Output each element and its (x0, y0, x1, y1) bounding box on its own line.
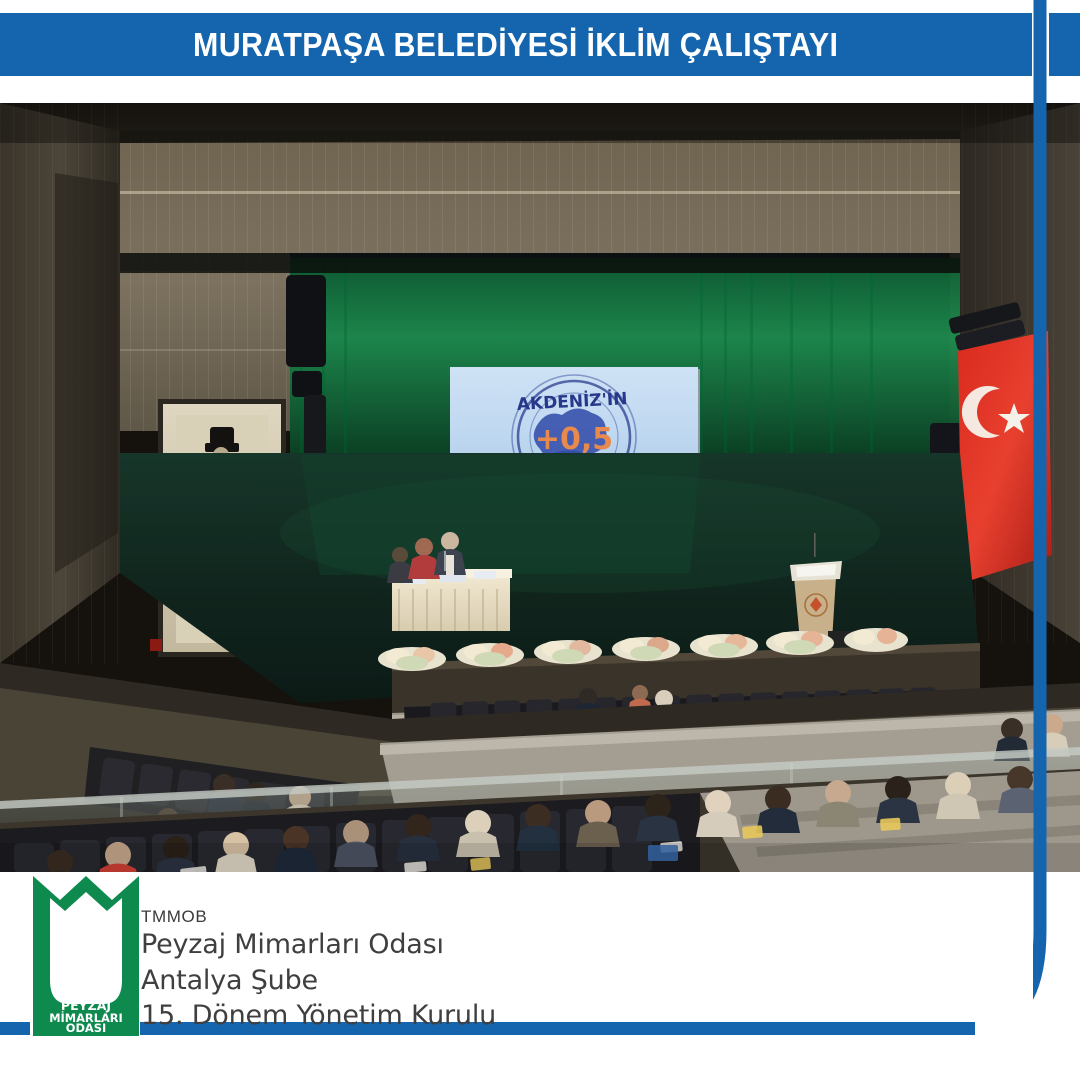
tmmob-peyzaj-logo-icon: TMMOB PEYZAJ MİMARLARI ODASI (33, 876, 139, 1036)
header-bar: MURATPAŞA BELEDİYESİ İKLİM ÇALIŞTAYI (0, 13, 1032, 76)
svg-text:TMMOB: TMMOB (71, 990, 101, 998)
poster-root: MURATPAŞA BELEDİYESİ İKLİM ÇALIŞTAYI (0, 0, 1080, 1080)
footer-line-3: 15. Dönem Yönetim Kurulu (141, 998, 496, 1033)
event-photo-illustration: AKDENİZ'İN +0,5 GELECEĞİ (0, 103, 1080, 872)
event-photo: AKDENİZ'İN +0,5 GELECEĞİ (0, 103, 1080, 872)
header-bar-stub (1049, 13, 1080, 76)
tmmob-peyzaj-logo: TMMOB PEYZAJ MİMARLARI ODASI (33, 876, 139, 1036)
page-title: MURATPAŞA BELEDİYESİ İKLİM ÇALIŞTAYI (193, 28, 838, 61)
svg-text:ODASI: ODASI (66, 1021, 106, 1035)
footer-line-1: Peyzaj Mimarları Odası (141, 927, 496, 962)
svg-text:+0,5: +0,5 (535, 422, 613, 457)
footer-text-block: TMMOB Peyzaj Mimarları Odası Antalya Şub… (141, 906, 496, 1033)
footer-line-2: Antalya Şube (141, 963, 496, 998)
footer-rule-left (0, 1022, 30, 1035)
footer-org-abbrev: TMMOB (141, 906, 496, 927)
